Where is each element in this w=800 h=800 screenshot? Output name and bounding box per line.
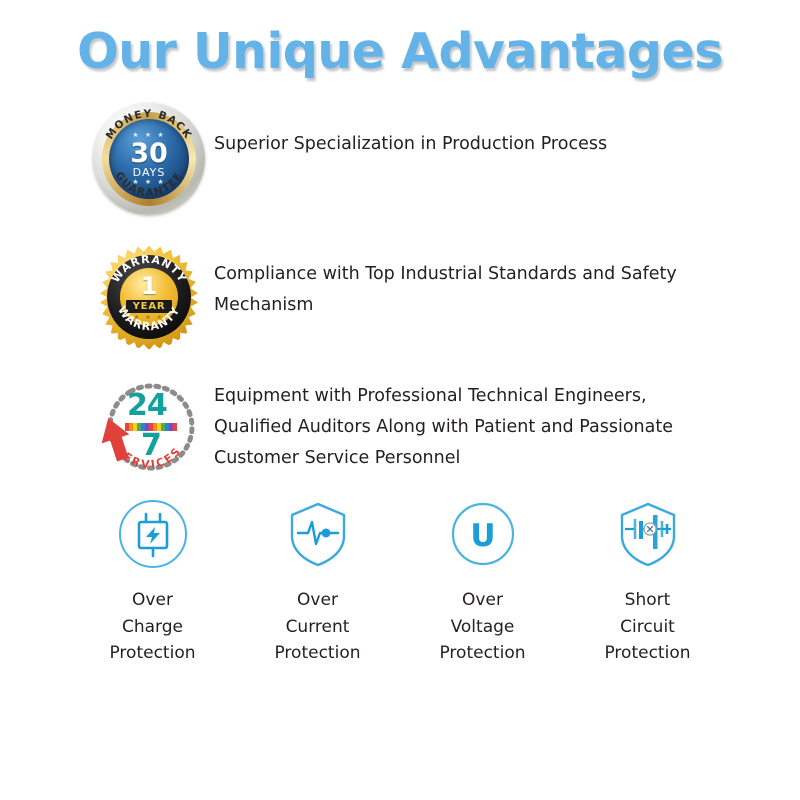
feature-label: Over Charge Protection bbox=[109, 587, 195, 666]
badge-top-arc-label: MONEY BACK bbox=[104, 108, 195, 142]
feature-label: Over Current Protection bbox=[274, 587, 360, 666]
24-7-services-badge: 24 7 SERVICES bbox=[97, 377, 201, 481]
badge-bottom-arc-label: GUARANTEE bbox=[113, 170, 186, 199]
badge-cell: 24 7 SERVICES bbox=[84, 377, 214, 481]
badge-arc-label: SERVICES bbox=[114, 444, 185, 471]
badge-arc-text: WARRANTY WARRANTY bbox=[97, 245, 201, 349]
advantages-list: ★ ★ ★ 30 DAYS ★ ★ ★ MONEY BACK GUARANTEE bbox=[0, 103, 800, 481]
advantage-text: Superior Specialization in Production Pr… bbox=[214, 103, 607, 160]
feature-over-voltage: U Over Voltage Protection bbox=[400, 495, 565, 666]
feature-over-charge: Over Charge Protection bbox=[70, 495, 235, 666]
badge-cell: ★ ★ ★ 30 DAYS ★ ★ ★ MONEY BACK GUARANTEE bbox=[84, 103, 214, 215]
warranty-badge: 1 YEAR ★ ★ ★ WARRANTY WARRANTY bbox=[97, 245, 201, 349]
page-title: Our Unique Advantages bbox=[0, 0, 800, 77]
voltage-u-glyph: U bbox=[470, 518, 495, 554]
shield-pulse-icon bbox=[282, 498, 354, 570]
feature-label: Over Voltage Protection bbox=[439, 587, 525, 666]
advantage-text: Equipment with Professional Technical En… bbox=[214, 377, 714, 473]
badge-bottom-arc-label: WARRANTY bbox=[115, 304, 183, 333]
advantage-row: 1 YEAR ★ ★ ★ WARRANTY WARRANTY bbox=[0, 245, 800, 349]
money-back-guarantee-badge: ★ ★ ★ 30 DAYS ★ ★ ★ MONEY BACK GUARANTEE bbox=[93, 103, 205, 215]
feature-short-circuit: Short Circuit Protection bbox=[565, 495, 730, 666]
badge-cell: 1 YEAR ★ ★ ★ WARRANTY WARRANTY bbox=[84, 245, 214, 349]
protection-features-row: Over Charge Protection Over Current Prot… bbox=[0, 495, 800, 666]
advantage-row: ★ ★ ★ 30 DAYS ★ ★ ★ MONEY BACK GUARANTEE bbox=[0, 103, 800, 215]
voltage-u-icon: U bbox=[447, 498, 519, 570]
feature-icon-wrap: U bbox=[447, 495, 519, 573]
feature-icon-wrap bbox=[117, 495, 189, 573]
feature-label: Short Circuit Protection bbox=[604, 587, 690, 666]
feature-over-current: Over Current Protection bbox=[235, 495, 400, 666]
charge-plug-icon bbox=[117, 498, 189, 570]
badge-arc-text: MONEY BACK GUARANTEE bbox=[93, 103, 205, 215]
badge-arc-text: SERVICES bbox=[97, 377, 201, 481]
shield-short-circuit-icon bbox=[612, 498, 684, 570]
feature-icon-wrap bbox=[282, 495, 354, 573]
advantage-text: Compliance with Top Industrial Standards… bbox=[214, 245, 714, 320]
feature-icon-wrap bbox=[612, 495, 684, 573]
badge-top-arc-label: WARRANTY bbox=[109, 253, 189, 285]
advantage-row: 24 7 SERVICES Equipment with Professiona… bbox=[0, 377, 800, 481]
